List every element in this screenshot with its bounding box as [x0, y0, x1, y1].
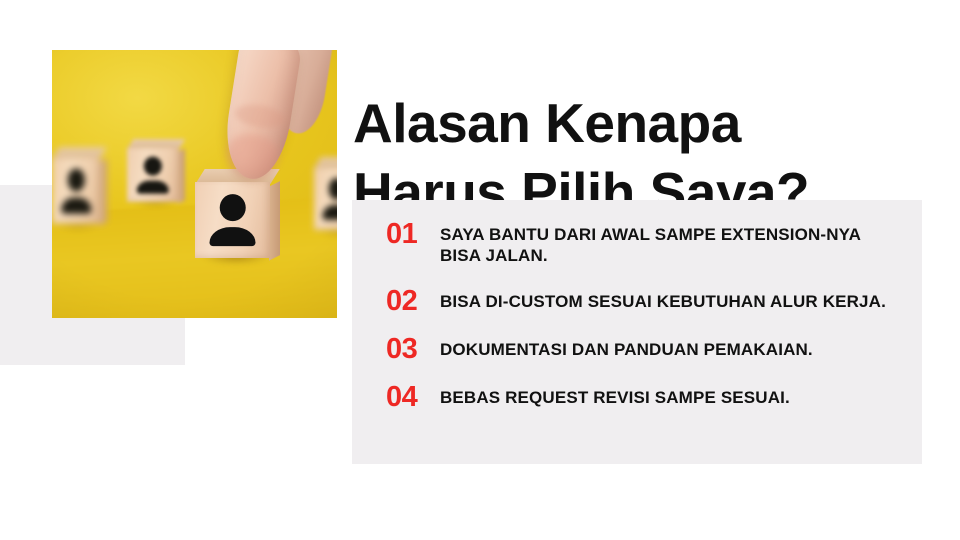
person-icon	[61, 169, 91, 214]
person-icon	[323, 178, 337, 220]
person-icon	[209, 194, 256, 246]
block-front-face	[52, 158, 100, 224]
person-icon-head	[144, 157, 162, 176]
list-item-number: 02	[386, 288, 440, 314]
list-item-text: BISA DI-CUSTOM SESUAI KEBUTUHAN ALUR KER…	[440, 288, 896, 312]
list-item: 02 BISA DI-CUSTOM SESUAI KEBUTUHAN ALUR …	[386, 288, 896, 314]
person-icon-head	[219, 194, 245, 221]
list-item-text: DOKUMENTASI DAN PANDUAN PEMAKAIAN.	[440, 336, 896, 360]
list-item-text: BEBAS REQUEST REVISI SAMPE SESUAI.	[440, 384, 896, 408]
block-front-face	[127, 148, 179, 202]
person-icon	[137, 157, 169, 194]
list-item-number: 01	[386, 221, 440, 247]
wooden-block-right-blurred	[314, 168, 337, 230]
block-side-face	[178, 148, 185, 204]
wooden-block-focus	[195, 182, 270, 258]
wooden-block-middle-blurred	[127, 148, 179, 202]
person-icon-body	[209, 227, 256, 246]
hero-photo	[52, 50, 337, 318]
block-side-face	[269, 182, 280, 261]
person-icon-body	[61, 197, 91, 213]
block-front-face	[195, 182, 270, 258]
slide-canvas: Alasan Kenapa Harus Pilih Saya? 01 SAYA …	[0, 0, 960, 540]
list-item-number: 04	[386, 384, 440, 410]
list-item: 04 BEBAS REQUEST REVISI SAMPE SESUAI.	[386, 384, 896, 410]
person-icon-head	[329, 178, 337, 200]
reasons-panel: 01 SAYA BANTU DARI AWAL SAMPE EXTENSION-…	[352, 200, 922, 464]
list-item-text: SAYA BANTU DARI AWAL SAMPE EXTENSION-NYA…	[440, 221, 896, 266]
person-icon-body	[137, 180, 169, 193]
person-icon-body	[323, 205, 337, 220]
block-side-face	[100, 158, 107, 225]
person-icon-head	[68, 169, 85, 192]
reasons-list: 01 SAYA BANTU DARI AWAL SAMPE EXTENSION-…	[386, 221, 896, 410]
block-front-face	[314, 168, 337, 230]
list-item: 01 SAYA BANTU DARI AWAL SAMPE EXTENSION-…	[386, 221, 896, 266]
page-title-line-1: Alasan Kenapa	[353, 89, 923, 158]
list-item-number: 03	[386, 336, 440, 362]
list-item: 03 DOKUMENTASI DAN PANDUAN PEMAKAIAN.	[386, 336, 896, 362]
wooden-block-left-blurred	[52, 158, 100, 224]
